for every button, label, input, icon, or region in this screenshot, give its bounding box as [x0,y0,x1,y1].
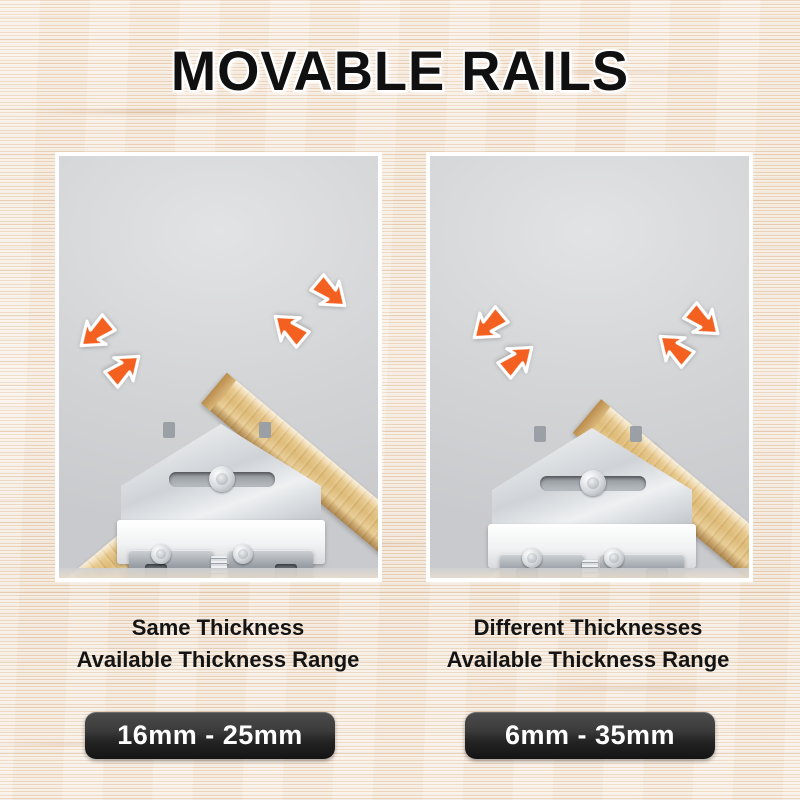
caption-left: Same Thickness Available Thickness Range [48,612,388,676]
corner-clamp-assembly [478,428,708,582]
clamp-rail-bolt-left [522,548,542,568]
caption-right-line1: Different Thicknesses [418,612,758,644]
caption-left-line2: Available Thickness Range [48,644,388,676]
corner-clamp-assembly [107,424,337,582]
photo-panel-right [426,152,753,582]
clamp-rail-bolt-right [233,544,253,564]
clamp-rail-bolt-right [604,548,624,568]
clamp-rail-slot-right [275,564,297,582]
clamp-rail-slot-left [516,568,538,582]
poster-stage: MOVABLE RAILS [0,0,800,800]
caption-left-line1: Same Thickness [48,612,388,644]
bolt-inner [527,553,537,563]
clamp-rail-slot-right [646,568,668,582]
clamp-rail-left [129,550,213,582]
bolt-inner [216,473,229,486]
clamp-center-bolt [209,466,235,492]
product-photo-right [430,156,749,578]
caption-right-line2: Available Thickness Range [418,644,758,676]
arrow-icon [301,265,360,324]
product-photo-left [59,156,378,578]
clamp-center-bolt [580,470,606,496]
clamp-notch-right [259,422,271,438]
badge-left-label: 16mm - 25mm [117,720,303,751]
caption-right: Different Thicknesses Available Thicknes… [418,612,758,676]
bolt-inner [238,549,248,559]
photo-panel-left [55,152,382,582]
arrow-icon [259,299,318,358]
bolt-inner [156,549,166,559]
clamp-threaded-screw [211,556,227,582]
clamp-notch-left [534,426,546,442]
bolt-inner [609,553,619,563]
bolt-inner [587,477,600,490]
clamp-threaded-screw [582,560,598,582]
clamp-rail-bolt-left [151,544,171,564]
clamp-notch-left [163,422,175,438]
badge-thickness-range-right: 6mm - 35mm [465,712,715,759]
clamp-notch-right [630,426,642,442]
clamp-rail-left [500,554,584,582]
badge-thickness-range-left: 16mm - 25mm [85,712,335,759]
badge-right-label: 6mm - 35mm [505,720,675,751]
page-title: MOVABLE RAILS [12,38,788,103]
clamp-rail-slot-left [145,564,167,582]
